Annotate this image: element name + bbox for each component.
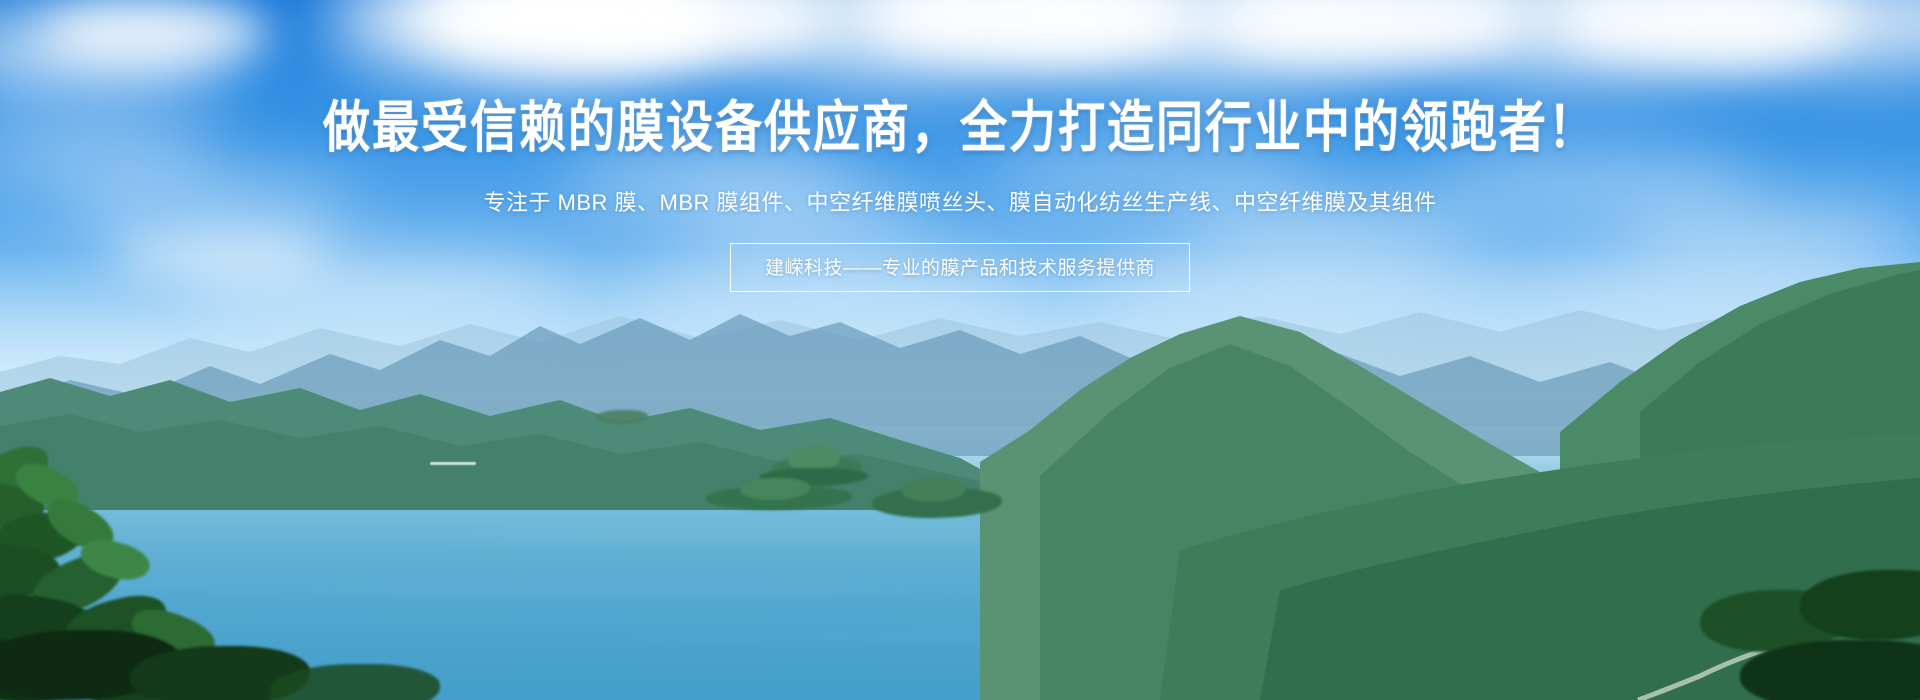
hero-banner: 做最受信赖的膜设备供应商，全力打造同行业中的领跑者！ 专注于 MBR 膜、MBR… <box>0 0 1920 700</box>
tagline-container: 建嵘科技——专业的膜产品和技术服务提供商 <box>0 243 1920 292</box>
foreground-foliage-bottom <box>0 620 420 700</box>
island-tiny <box>596 408 648 426</box>
foreground-foliage-far-right <box>1700 560 1920 700</box>
tagline-box: 建嵘科技——专业的膜产品和技术服务提供商 <box>730 243 1190 292</box>
cloud-decoration <box>40 4 270 60</box>
banner-headline: 做最受信赖的膜设备供应商，全力打造同行业中的领跑者！ <box>0 98 1920 157</box>
banner-subtitle: 专注于 MBR 膜、MBR 膜组件、中空纤维膜喷丝头、膜自动化纺丝生产线、中空纤… <box>0 185 1920 217</box>
